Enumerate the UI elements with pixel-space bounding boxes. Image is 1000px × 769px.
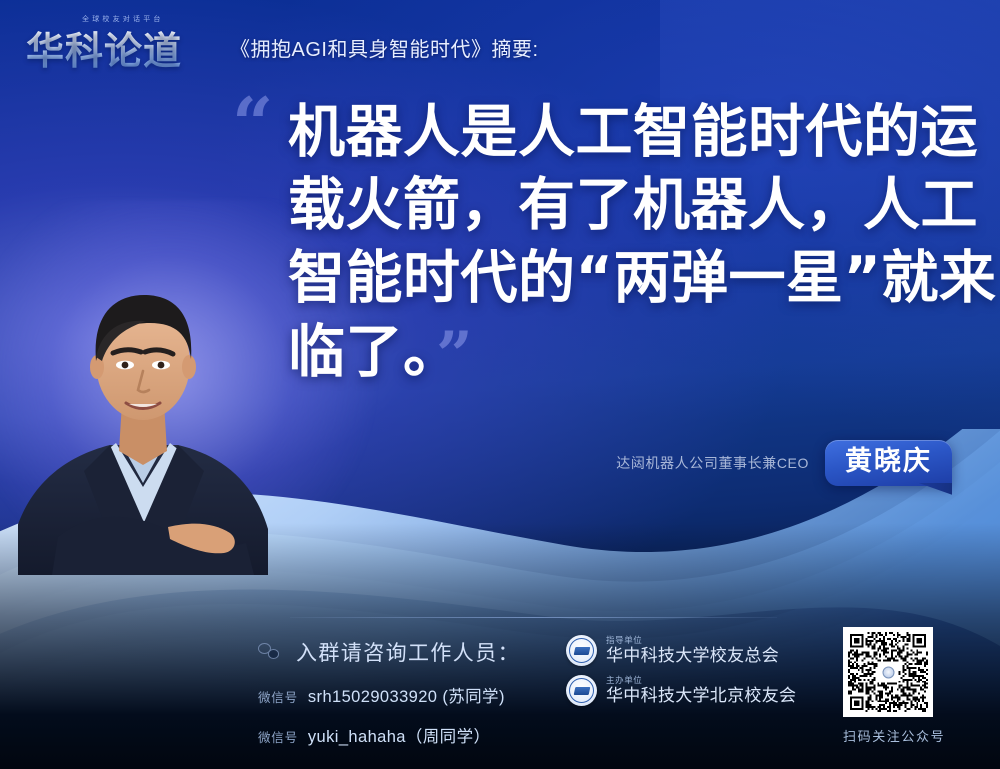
poster-footer: 入群请咨询工作人员： 微信号 srh15029033920 (苏同学) 微信号 … [0, 609, 1000, 769]
contact-value[interactable]: yuki_hahaha（周同学） [308, 723, 490, 747]
quote-line: 载火箭，有了机器人，人工 [288, 169, 948, 242]
speaker-role: 达闼机器人公司董事长兼CEO [616, 453, 809, 473]
contact-row: 微信号 srh15029033920 (苏同学) [258, 683, 520, 707]
qr-block: 扫码关注公众号 [843, 627, 945, 745]
contact-value[interactable]: srh15029033920 (苏同学) [308, 683, 505, 707]
quote-line: 临了。” [288, 315, 948, 397]
organizer-text: 主办单位 华中科技大学北京校友会 [606, 676, 796, 705]
speaker-portrait [18, 275, 268, 575]
organizer-text: 指导单位 华中科技大学校友总会 [606, 636, 779, 665]
contact-title: 入群请咨询工作人员： [296, 637, 520, 667]
footer-divider [290, 617, 777, 618]
speaker-name-badge: 黄晓庆 [825, 440, 952, 486]
organizer-item: 指导单位 华中科技大学校友总会 [566, 635, 796, 666]
contact-row: 微信号 yuki_hahaha（周同学） [258, 723, 520, 747]
quote-block: “ 机器人是人工智能时代的运 载火箭，有了机器人，人工 智能时代的“两弹一星”就… [232, 96, 948, 397]
brand-name: 华科论道 [26, 20, 182, 75]
quote-lines: 机器人是人工智能时代的运 载火箭，有了机器人，人工 智能时代的“两弹一星”就来 … [288, 96, 948, 397]
contact-block: 入群请咨询工作人员： 微信号 srh15029033920 (苏同学) 微信号 … [258, 637, 520, 747]
quote-line: 智能时代的“两弹一星”就来 [288, 242, 948, 315]
organizer-item: 主办单位 华中科技大学北京校友会 [566, 675, 796, 706]
organizer-kind: 主办单位 [606, 676, 796, 685]
contact-heading: 入群请咨询工作人员： [258, 637, 520, 667]
qr-code[interactable] [843, 627, 933, 717]
contact-label: 微信号 [258, 727, 298, 746]
organizer-kind: 指导单位 [606, 636, 779, 645]
contact-label: 微信号 [258, 687, 298, 706]
attribution: 达闼机器人公司董事长兼CEO 黄晓庆 [616, 440, 952, 486]
organizer-name: 华中科技大学校友总会 [606, 647, 779, 665]
organizer-block: 指导单位 华中科技大学校友总会 主办单位 华中科技大学北京校友会 [566, 635, 796, 715]
university-seal-icon [566, 675, 597, 706]
quote-open-mark: “ [232, 102, 273, 145]
brand-logo: 全球校友对话平台 华科论道 [26, 12, 214, 68]
organizer-name: 华中科技大学北京校友会 [606, 687, 796, 705]
poster-header: 全球校友对话平台 华科论道 《拥抱AGI和具身智能时代》摘要: [26, 12, 539, 68]
quote-line-text: 临了。 [288, 319, 432, 385]
university-seal-icon [566, 635, 597, 666]
qr-caption: 扫码关注公众号 [843, 726, 945, 745]
quote-close-mark: ” [436, 318, 473, 393]
page-title: 《拥抱AGI和具身智能时代》摘要: [230, 19, 539, 62]
wechat-icon [258, 643, 282, 661]
quote-line: 机器人是人工智能时代的运 [288, 96, 948, 169]
poster: 全球校友对话平台 华科论道 《拥抱AGI和具身智能时代》摘要: “ 机器人是人工… [0, 0, 1000, 769]
qr-center-logo [880, 664, 897, 681]
